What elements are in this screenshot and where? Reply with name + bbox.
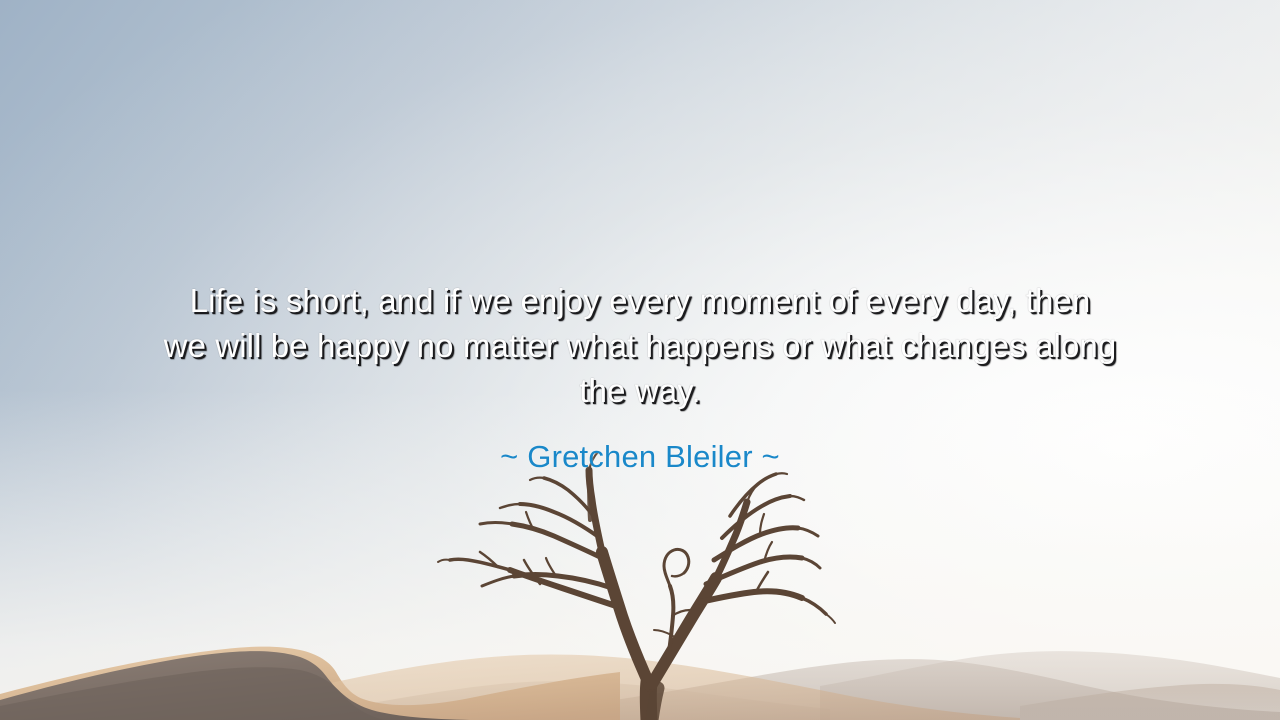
quote-line-3: the way. [40,368,1240,413]
quote-image-canvas: Life is short, and if we enjoy every mom… [0,0,1280,720]
quote-text: Life is short, and if we enjoy every mom… [40,278,1240,413]
quote-line-1: Life is short, and if we enjoy every mom… [40,278,1240,323]
quote-line-2: we will be happy no matter what happens … [40,323,1240,368]
quote-attribution: ~ Gretchen Bleiler ~ [40,436,1240,478]
text-overlay: Life is short, and if we enjoy every mom… [0,0,1280,720]
